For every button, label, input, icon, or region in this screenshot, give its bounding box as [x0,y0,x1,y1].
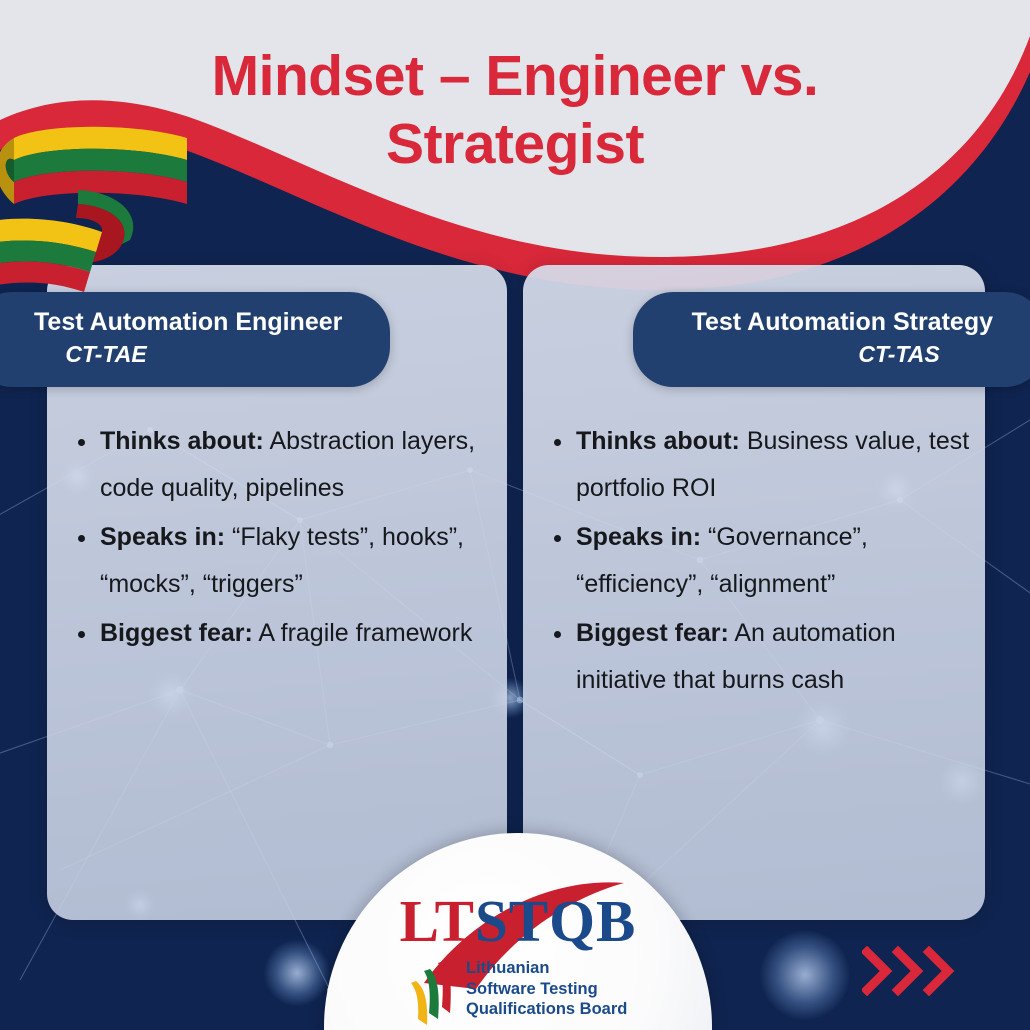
logo-subtitle-line-1: Lithuanian [466,958,712,979]
logo-subtitle: Lithuanian Software Testing Qualificatio… [324,958,712,1020]
bullet-label: Biggest fear: [100,619,253,647]
logo-lt-text: LT [400,888,475,954]
list-item: Biggest fear: A fragile framework [72,610,502,657]
logo-subtitle-line-2: Software Testing [466,979,712,1000]
list-item: Thinks about: Abstraction layers, code q… [72,418,502,512]
bokeh-dot [264,940,330,1006]
list-item: Thinks about: Business value, test portf… [548,418,978,512]
pill-code-engineer: CT-TAE [6,339,356,369]
logo-subtitle-line-3: Qualifications Board [466,999,712,1020]
bullet-label: Biggest fear: [576,619,729,647]
pill-code-strategy: CT-TAS [667,339,1011,369]
slide-canvas: Mindset – Engineer vs. Strategist Test A… [0,0,1030,1030]
list-item: Speaks in: “Flaky tests”, hooks”, “mocks… [72,514,502,608]
bullet-label: Thinks about: [576,427,740,455]
bullet-label: Speaks in: [100,523,225,551]
pill-header-strategy: Test Automation Strategy CT-TAS [633,292,1030,387]
logo-stqb-text: STQB [475,888,636,954]
list-item: Speaks in: “Governance”, “efficiency”, “… [548,514,978,608]
chevrons-right-icon[interactable] [862,946,958,996]
logo-flag-strokes-icon [410,957,470,1027]
logo-wordmark: LTSTQB [324,891,712,951]
bullet-label: Thinks about: [100,427,264,455]
bullet-list-strategy: Thinks about: Business value, test portf… [548,418,978,706]
bullet-text: A fragile framework [253,619,473,647]
logo-lockup: LTSTQB Lithuanian Software Testing Quali… [324,891,712,1020]
ltstqb-logo-badge: LTSTQB Lithuanian Software Testing Quali… [324,833,712,1030]
pill-title-engineer: Test Automation Engineer [6,306,356,338]
bullet-list-engineer: Thinks about: Abstraction layers, code q… [72,418,502,659]
bullet-label: Speaks in: [576,523,701,551]
page-title: Mindset – Engineer vs. Strategist [0,42,1030,178]
list-item: Biggest fear: An automation initiative t… [548,610,978,704]
pill-title-strategy: Test Automation Strategy [667,306,1011,338]
pill-header-engineer: Test Automation Engineer CT-TAE [0,292,390,387]
bokeh-dot [760,930,850,1020]
